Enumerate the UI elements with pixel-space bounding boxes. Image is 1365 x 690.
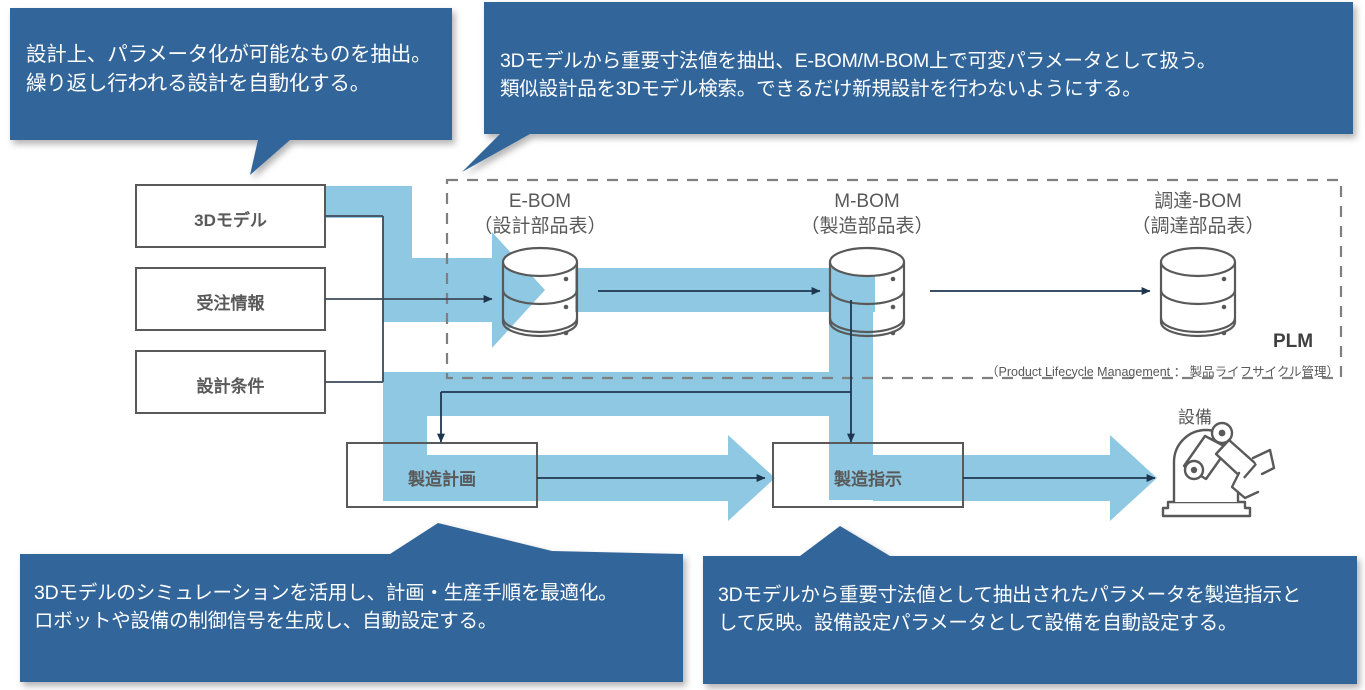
- callout-top-left: [10, 8, 452, 175]
- diagram-canvas: 設計上、パラメータ化が可能なものを抽出。 繰り返し行われる設計を自動化する。 3…: [0, 0, 1365, 690]
- callout-bottom-left: [20, 523, 683, 682]
- input-box-3dmodel[interactable]: [136, 185, 325, 247]
- callout-top-right: [462, 2, 1353, 172]
- database-cylinder-procurement-bom: [1161, 248, 1235, 336]
- callout-bottom-right: [703, 526, 1357, 684]
- input-box-design-conditions[interactable]: [136, 351, 325, 413]
- diagram-svg: [0, 0, 1365, 690]
- robot-arm-icon: [1163, 423, 1274, 516]
- input-box-order-info[interactable]: [136, 268, 325, 330]
